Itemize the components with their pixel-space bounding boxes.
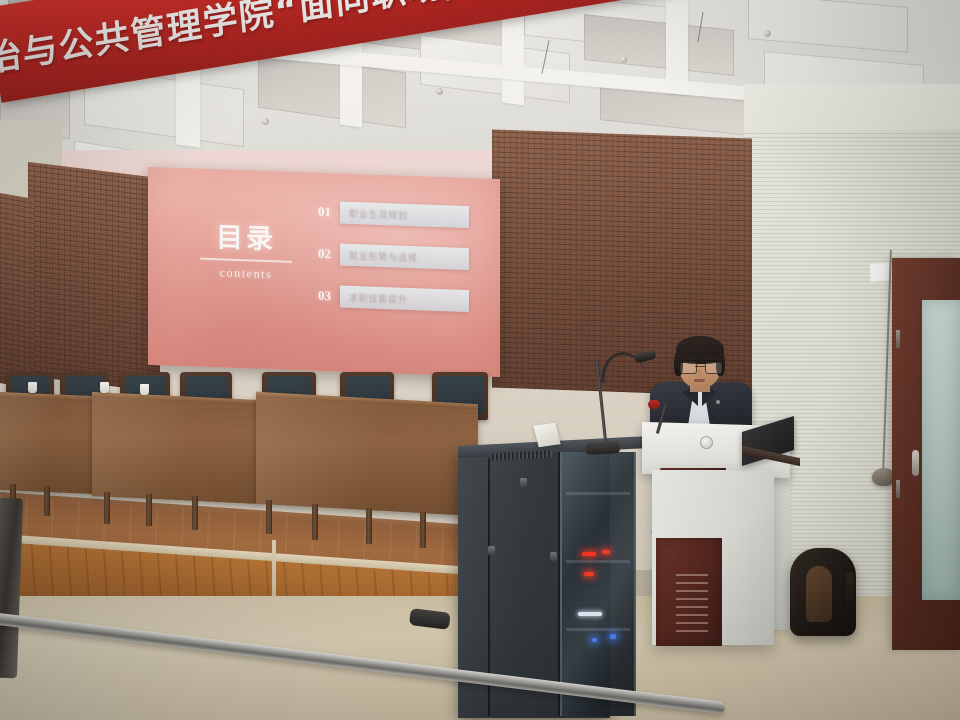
slide-contents-item: 01 职业生涯规划 bbox=[318, 201, 488, 229]
slide-item-box: 就业形势与选择 bbox=[340, 244, 469, 271]
stage-table bbox=[0, 392, 94, 494]
acoustic-panel-edge bbox=[0, 193, 34, 389]
slide-item-number: 02 bbox=[318, 246, 340, 263]
table-leg bbox=[266, 500, 272, 534]
slide-heading-group: 目录 contents bbox=[186, 223, 306, 283]
rack-lock[interactable] bbox=[520, 478, 527, 487]
podium-emblem-icon bbox=[700, 436, 713, 449]
slide-item-label: 职业生涯规划 bbox=[349, 206, 408, 221]
table-leg bbox=[366, 508, 372, 544]
slide-item-label: 求职技能提升 bbox=[349, 290, 408, 305]
rack-lock[interactable] bbox=[488, 546, 495, 555]
slide-item-number: 01 bbox=[318, 204, 340, 221]
speaker-eyebrow bbox=[683, 357, 696, 360]
backpack-strap bbox=[846, 572, 854, 616]
microphone-secondary-capsule bbox=[648, 400, 660, 409]
table-leg bbox=[104, 492, 110, 524]
table-leg bbox=[420, 512, 426, 548]
backpack-front-panel bbox=[806, 566, 832, 622]
banner-grommet bbox=[620, 56, 627, 63]
door-glass-panel bbox=[922, 300, 960, 600]
paper-cup bbox=[100, 382, 109, 393]
acoustic-panel-left bbox=[28, 162, 160, 392]
slide-divider bbox=[200, 258, 292, 263]
door-hinge bbox=[896, 330, 900, 348]
paper-cup bbox=[140, 384, 149, 395]
slide-item-box: 职业生涯规划 bbox=[340, 202, 469, 229]
table-sheen bbox=[0, 392, 94, 494]
lecture-hall-photograph: 目录 contents 01 职业生涯规划 02 就业形势与选择 03 求职技能… bbox=[0, 0, 960, 720]
rack-lock[interactable] bbox=[550, 552, 557, 561]
podium-vent-grille bbox=[676, 574, 708, 632]
table-leg bbox=[44, 486, 50, 516]
microphone-base bbox=[586, 441, 620, 455]
table-sheen bbox=[256, 392, 478, 516]
slide-contents-item: 03 求职技能提升 bbox=[318, 285, 488, 313]
stage-table bbox=[92, 392, 258, 504]
table-leg bbox=[312, 504, 318, 540]
slide-contents-item: 02 就业形势与选择 bbox=[318, 243, 488, 271]
speaker-lapel-pin bbox=[716, 400, 720, 404]
glasses-lens-left bbox=[680, 362, 697, 374]
glasses-bridge bbox=[695, 366, 705, 367]
speaker-nose bbox=[697, 369, 702, 377]
table-sheen bbox=[92, 392, 258, 504]
slide-contents-list: 01 职业生涯规划 02 就业形势与选择 03 求职技能提升 bbox=[318, 201, 488, 333]
door-hinge bbox=[896, 480, 900, 498]
projection-screen: 目录 contents 01 职业生涯规划 02 就业形势与选择 03 求职技能… bbox=[148, 167, 500, 377]
speaker-eyebrow bbox=[704, 357, 717, 360]
banner-grommet bbox=[764, 30, 771, 37]
rack-glass-door[interactable] bbox=[560, 452, 636, 716]
stage-table bbox=[256, 392, 478, 516]
banner-grommet bbox=[262, 118, 269, 125]
table-leg bbox=[192, 496, 198, 530]
door-handle[interactable] bbox=[912, 450, 919, 476]
slide-title: 目录 bbox=[186, 223, 306, 254]
glasses-lens-right bbox=[705, 362, 722, 374]
slide-item-number: 03 bbox=[318, 288, 340, 305]
banner-grommet bbox=[436, 88, 443, 95]
glass-reflection bbox=[562, 452, 634, 716]
paper-cup bbox=[28, 382, 37, 393]
table-leg bbox=[146, 494, 152, 526]
speaker-mouth bbox=[694, 379, 705, 382]
slide-item-label: 就业形势与选择 bbox=[349, 248, 418, 263]
slide-item-box: 求职技能提升 bbox=[340, 286, 469, 313]
